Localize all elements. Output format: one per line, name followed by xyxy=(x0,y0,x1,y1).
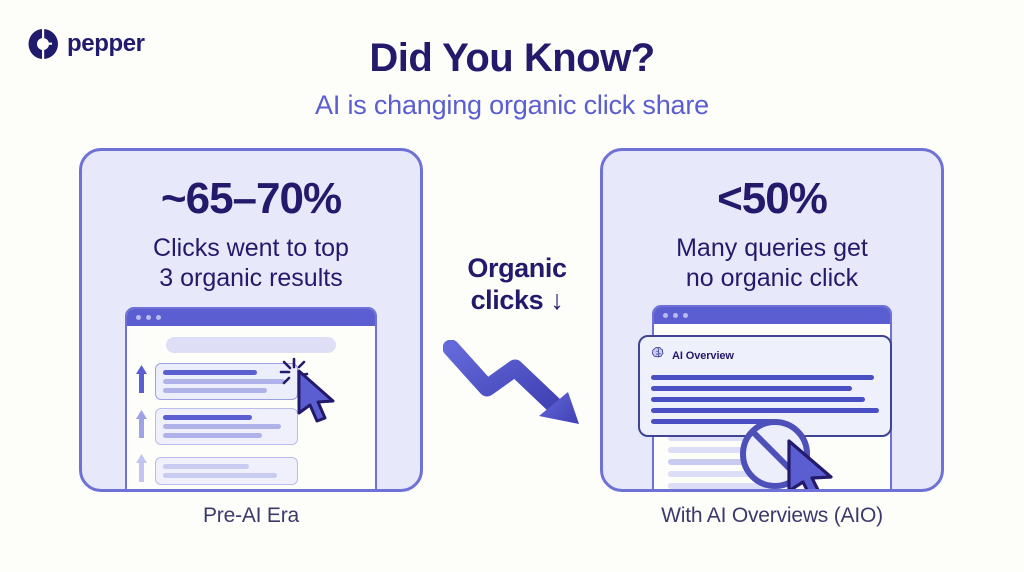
stat-value-left: ~65–70% xyxy=(82,177,420,221)
window-dot-icon xyxy=(136,315,141,320)
up-arrow-icon xyxy=(135,364,148,399)
stat-description-left: Clicks went to top 3 organic results xyxy=(82,234,420,293)
center-trend-label-line2: clicks ↓ xyxy=(432,284,602,316)
window-dot-icon xyxy=(673,313,678,318)
stat-description-left-line2: 3 organic results xyxy=(96,264,406,294)
stat-value-right: <50% xyxy=(603,177,941,221)
declining-trend-arrow-icon xyxy=(443,340,591,432)
snippet-title-line xyxy=(668,459,763,465)
window-dot-icon xyxy=(156,315,161,320)
ai-overview-text-line xyxy=(651,386,852,391)
serp-mockup-pre-ai xyxy=(125,307,377,492)
up-arrow-icon xyxy=(135,453,148,488)
stat-description-right-line1: Many queries get xyxy=(617,234,927,264)
result-text-line xyxy=(163,473,277,478)
infographic-canvas: pepper Did You Know? AI is changing orga… xyxy=(0,0,1024,572)
result-card[interactable] xyxy=(155,408,298,445)
ai-overview-text-line xyxy=(651,375,874,380)
window-dot-icon xyxy=(663,313,668,318)
snippet-text-line xyxy=(668,471,790,477)
browser-title-bar-left xyxy=(127,309,375,326)
result-title-bar xyxy=(163,464,249,469)
stat-card-pre-ai: ~65–70% Clicks went to top 3 organic res… xyxy=(79,148,423,492)
ai-overview-header: AI Overview xyxy=(651,346,879,366)
ai-overview-text-line xyxy=(651,419,774,424)
ai-overview-text-line xyxy=(651,408,879,413)
result-card[interactable] xyxy=(155,457,298,485)
ai-overview-label: AI Overview xyxy=(672,350,734,362)
search-result-row[interactable] xyxy=(135,408,375,445)
snippet-text-line xyxy=(668,447,780,453)
ai-overview-panel[interactable]: AI Overview xyxy=(638,335,892,437)
window-dot-icon xyxy=(683,313,688,318)
browser-title-bar-right xyxy=(654,307,890,324)
card-caption-right: With AI Overviews (AIO) xyxy=(600,504,944,528)
card-caption-left: Pre-AI Era xyxy=(79,504,423,528)
serp-mockup-with-aio: AI Overview xyxy=(638,305,906,492)
browser-window-left xyxy=(125,307,377,492)
result-title-bar xyxy=(163,370,257,375)
result-text-line xyxy=(163,388,267,393)
page-subtitle: AI is changing organic click share xyxy=(0,90,1024,121)
stat-description-left-line1: Clicks went to top xyxy=(96,234,406,264)
search-result-row[interactable] xyxy=(135,453,375,488)
result-text-line xyxy=(163,433,262,438)
stat-description-right: Many queries get no organic click xyxy=(603,234,941,293)
stat-card-with-aio: <50% Many queries get no organic click xyxy=(600,148,944,492)
result-text-line xyxy=(163,424,281,429)
page-title: Did You Know? xyxy=(0,36,1024,81)
search-results-list xyxy=(127,363,375,488)
snippet-text-line xyxy=(668,483,773,489)
center-trend-label-line1: Organic xyxy=(432,252,602,284)
ai-overview-text-line xyxy=(651,397,865,402)
search-bar-placeholder[interactable] xyxy=(166,337,336,353)
up-arrow-icon xyxy=(135,409,148,444)
stat-description-right-line2: no organic click xyxy=(617,264,927,294)
center-trend-label: Organic clicks ↓ xyxy=(432,252,602,317)
result-card[interactable] xyxy=(155,363,298,400)
brain-icon xyxy=(651,346,666,366)
result-title-bar xyxy=(163,415,252,420)
result-text-line xyxy=(163,379,285,384)
search-result-row[interactable] xyxy=(135,363,375,400)
window-dot-icon xyxy=(146,315,151,320)
